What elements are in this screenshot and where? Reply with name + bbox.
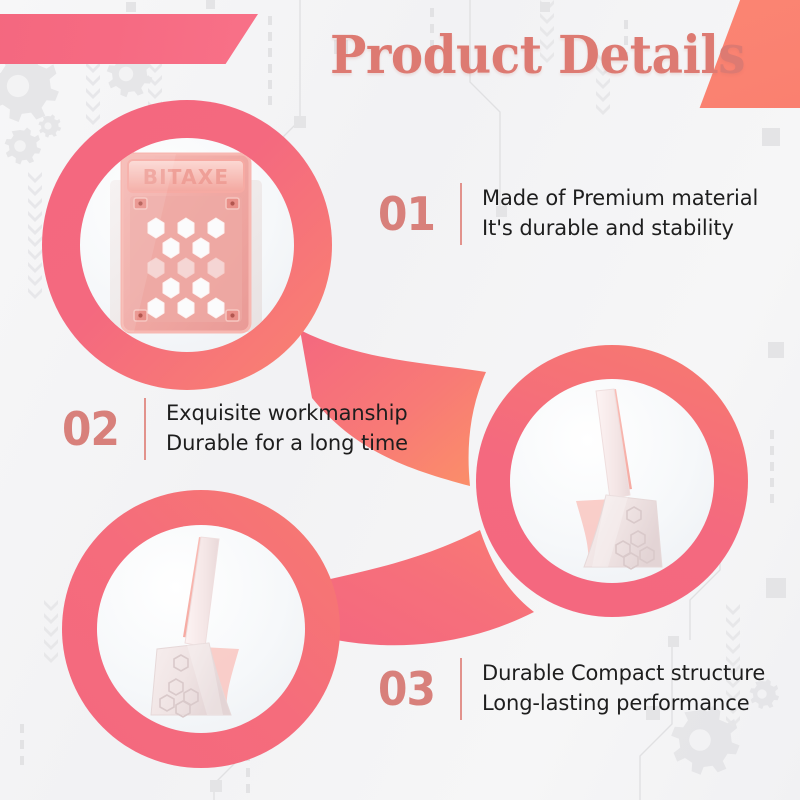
- feature-divider: [460, 658, 462, 720]
- hexagon-vent-pattern: [148, 218, 224, 318]
- feature-line-secondary: It's durable and stability: [482, 215, 758, 243]
- product-photo-side-stand-right: [510, 379, 714, 583]
- product-photo-side-stand-left: [97, 525, 305, 733]
- feature-line-secondary: Durable for a long time: [166, 430, 408, 458]
- feature-item-02: 02 Exquisite workmanship Durable for a l…: [62, 398, 408, 460]
- photo-circle-2-inner: [510, 379, 714, 583]
- feature-item-01: 01 Made of Premium material It's durable…: [378, 183, 758, 245]
- feature-text-02: Exquisite workmanship Durable for a long…: [166, 400, 408, 457]
- feature-line-primary: Exquisite workmanship: [166, 400, 408, 428]
- photo-circle-3: [62, 490, 340, 768]
- feature-divider: [144, 398, 146, 460]
- feature-text-03: Durable Compact structure Long-lasting p…: [482, 660, 765, 717]
- feature-number-02: 02: [62, 406, 119, 452]
- feature-line-primary: Durable Compact structure: [482, 660, 765, 688]
- feature-divider: [460, 183, 462, 245]
- feature-number-01: 01: [378, 191, 435, 237]
- infographic-canvas: Product Details: [0, 0, 800, 800]
- feature-line-primary: Made of Premium material: [482, 185, 758, 213]
- product-photo-front-case: BITAXE: [80, 138, 294, 352]
- feature-number-03: 03: [378, 666, 435, 712]
- feature-item-03: 03 Durable Compact structure Long-lastin…: [378, 658, 765, 720]
- photo-circle-2: [476, 345, 748, 617]
- feature-line-secondary: Long-lasting performance: [482, 690, 765, 718]
- photo-circle-1: BITAXE: [42, 100, 332, 390]
- photo-circle-3-inner: [97, 525, 305, 733]
- photo-circle-1-inner: BITAXE: [80, 138, 294, 352]
- feature-text-01: Made of Premium material It's durable an…: [482, 185, 758, 242]
